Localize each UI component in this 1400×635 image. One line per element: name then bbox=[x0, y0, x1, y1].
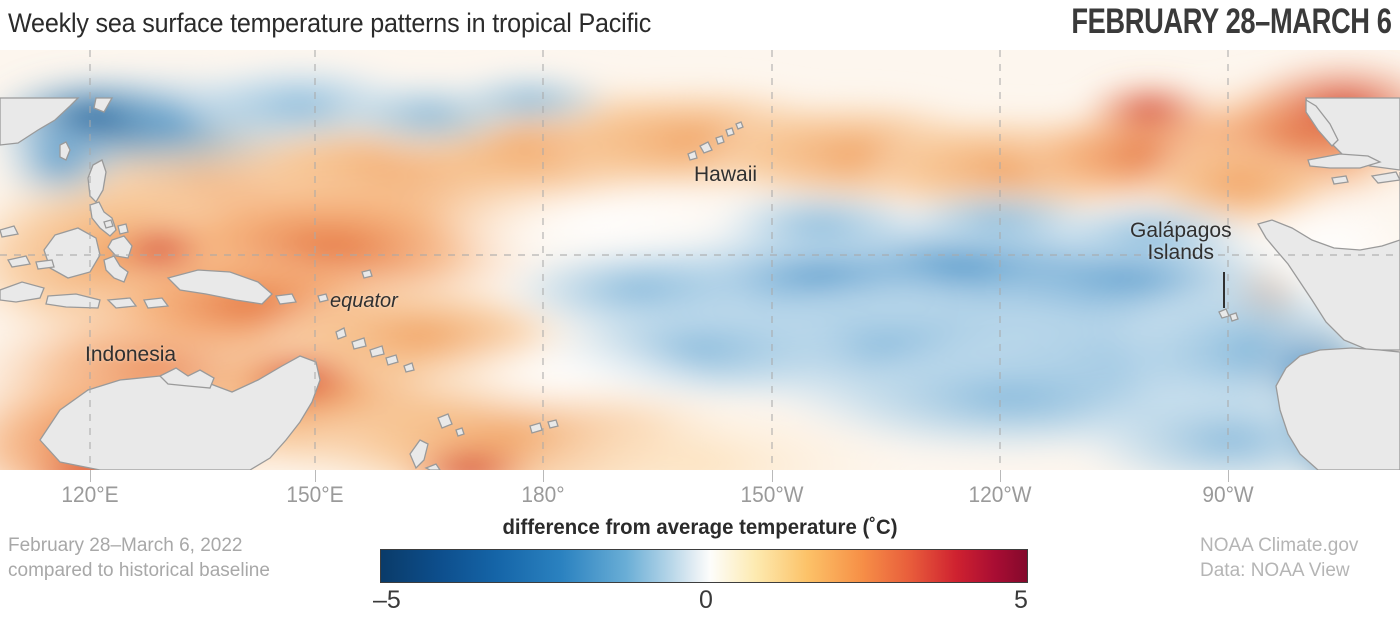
axis-tick bbox=[90, 470, 91, 482]
axis-tick-label: 150°E bbox=[286, 482, 343, 508]
axis-tick bbox=[315, 470, 316, 482]
date-range-heading: FEBRUARY 28–MARCH 6 bbox=[1072, 2, 1392, 42]
caption-line-2: compared to historical baseline bbox=[8, 558, 270, 583]
axis-tick-label: 180° bbox=[521, 482, 564, 508]
figure-header: Weekly sea surface temperature patterns … bbox=[0, 0, 1400, 50]
figure-caption: February 28–March 6, 2022 compared to hi… bbox=[8, 533, 270, 583]
colorbar-min-label: –5 bbox=[373, 586, 401, 615]
credit-line-2: Data: NOAA View bbox=[1200, 558, 1358, 583]
axis-tick-label: 120°W bbox=[969, 482, 1032, 508]
colorbar-gradient bbox=[380, 549, 1028, 583]
axis-tick-label: 90°W bbox=[1202, 482, 1253, 508]
sst-anomaly-map: Hawaii Indonesia Australia Galápagos Isl… bbox=[0, 50, 1400, 470]
climate-map-figure: Weekly sea surface temperature patterns … bbox=[0, 0, 1400, 635]
caption-line-1: February 28–March 6, 2022 bbox=[8, 533, 270, 558]
map-canvas bbox=[0, 50, 1400, 470]
axis-tick-label: 150°W bbox=[741, 482, 804, 508]
galapagos-leader-line bbox=[1223, 272, 1225, 308]
axis-tick bbox=[1000, 470, 1001, 482]
axis-tick bbox=[772, 470, 773, 482]
colorbar-max-label: 5 bbox=[1014, 586, 1028, 615]
axis-tick-label: 120°E bbox=[61, 482, 118, 508]
figure-credit: NOAA Climate.gov Data: NOAA View bbox=[1200, 533, 1358, 583]
axis-tick bbox=[543, 470, 544, 482]
page-title: Weekly sea surface temperature patterns … bbox=[8, 8, 651, 39]
longitude-axis: 120°E 150°E 180° 150°W 120°W 90°W bbox=[0, 470, 1400, 514]
colorbar-mid-label: 0 bbox=[699, 586, 713, 615]
axis-tick bbox=[1228, 470, 1229, 482]
credit-line-1: NOAA Climate.gov bbox=[1200, 533, 1358, 558]
